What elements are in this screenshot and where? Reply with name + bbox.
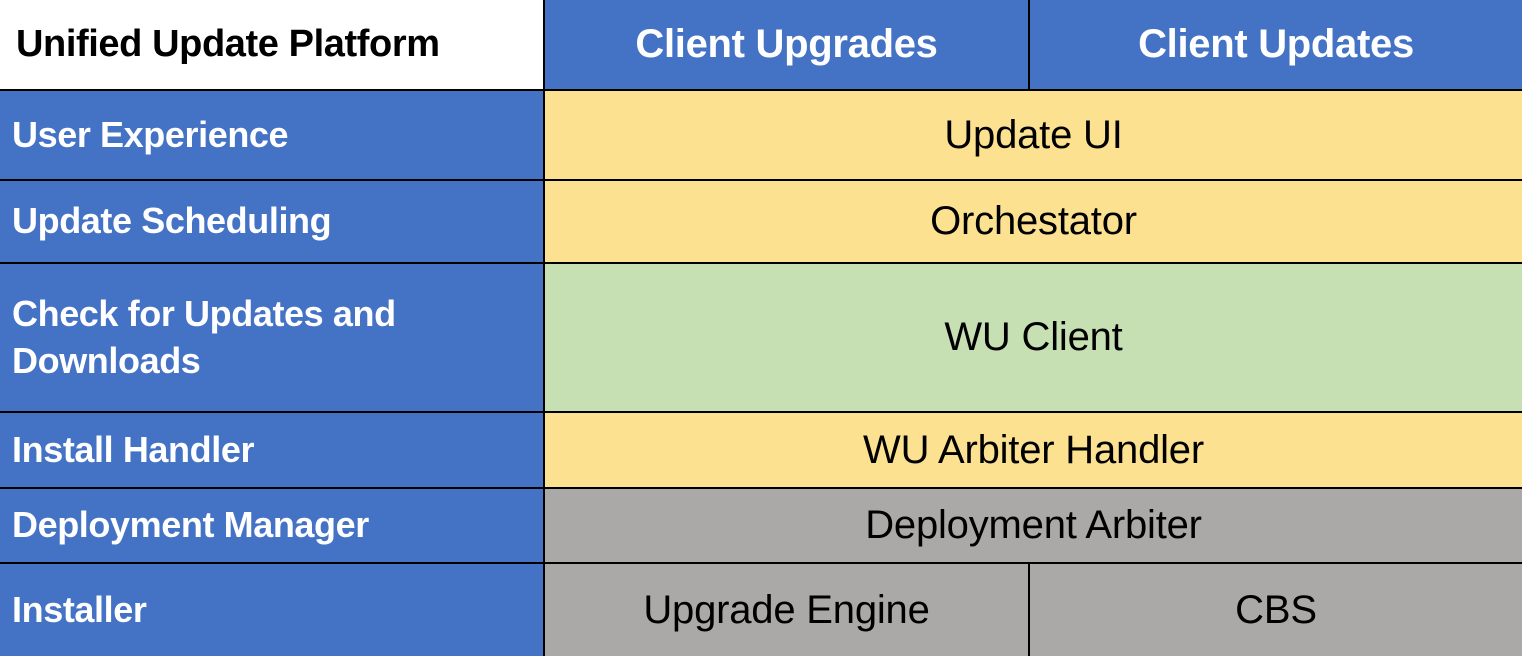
cell-upgrade-engine: Upgrade Engine xyxy=(544,563,1029,656)
row-label-check-for-updates-and-downloads: Check for Updates and Downloads xyxy=(0,263,544,412)
row-label-installer: Installer xyxy=(0,563,544,656)
cell-orchestator: Orchestator xyxy=(544,180,1522,263)
column-header-client-updates: Client Updates xyxy=(1029,0,1522,90)
cell-update-ui: Update UI xyxy=(544,90,1522,180)
unified-update-platform-table: Unified Update Platform Client Upgrades … xyxy=(0,0,1522,656)
table-row: Install Handler WU Arbiter Handler xyxy=(0,412,1522,488)
table-row: Check for Updates and Downloads WU Clien… xyxy=(0,263,1522,412)
row-label-user-experience: User Experience xyxy=(0,90,544,180)
cell-wu-arbiter-handler: WU Arbiter Handler xyxy=(544,412,1522,488)
row-label-deployment-manager: Deployment Manager xyxy=(0,488,544,563)
platform-title: Unified Update Platform xyxy=(0,0,544,90)
table-row: User Experience Update UI xyxy=(0,90,1522,180)
table-row: Update Scheduling Orchestator xyxy=(0,180,1522,263)
column-header-client-upgrades: Client Upgrades xyxy=(544,0,1029,90)
cell-cbs: CBS xyxy=(1029,563,1522,656)
cell-wu-client: WU Client xyxy=(544,263,1522,412)
cell-deployment-arbiter: Deployment Arbiter xyxy=(544,488,1522,563)
row-label-update-scheduling: Update Scheduling xyxy=(0,180,544,263)
table-row: Deployment Manager Deployment Arbiter xyxy=(0,488,1522,563)
table-header-row: Unified Update Platform Client Upgrades … xyxy=(0,0,1522,90)
row-label-install-handler: Install Handler xyxy=(0,412,544,488)
table-row: Installer Upgrade Engine CBS xyxy=(0,563,1522,656)
